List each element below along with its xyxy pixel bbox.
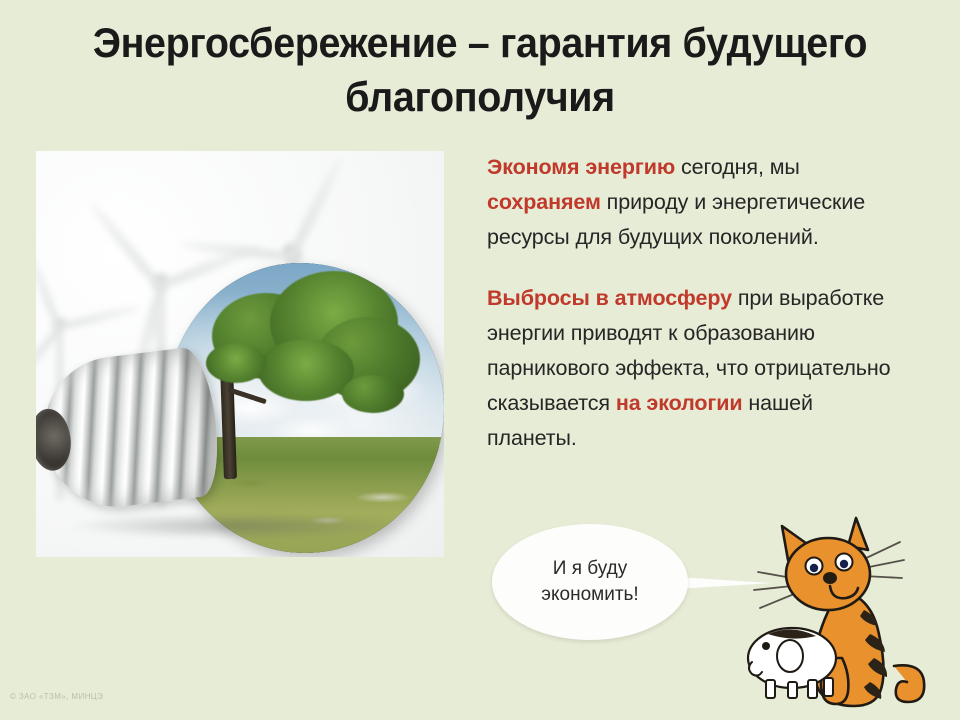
- copyright-watermark: © ЗАО «ТЗМ», МИНЦЭ: [10, 692, 103, 701]
- bulb-screw-base: [36, 345, 224, 515]
- tree-canopy: [258, 339, 354, 401]
- body-text-block: Экономя энергию сегодня, мы сохраняем пр…: [487, 150, 907, 482]
- title-line-2: благополучия: [66, 70, 893, 124]
- mouse-eye: [762, 642, 770, 650]
- highlight-ecology: на экологии: [616, 391, 743, 415]
- speech-bubble: И я буду экономить!: [492, 524, 688, 640]
- cat-pupil-right: [840, 560, 848, 568]
- cat-pupil-left: [810, 564, 818, 572]
- speech-bubble-text: И я буду экономить!: [492, 524, 688, 640]
- mouse-leg: [766, 680, 775, 698]
- highlight-emissions: Выбросы в атмосферу: [487, 286, 732, 310]
- paragraph-emissions: Выбросы в атмосферу при выработке энерги…: [487, 281, 907, 456]
- mouse-leg: [808, 680, 817, 698]
- cat-tail: [894, 665, 924, 702]
- slide-canvas: Энергосбережение – гарантия будущего бла…: [0, 0, 960, 720]
- bubble-line-2: экономить!: [541, 582, 638, 608]
- mouse-leg: [788, 682, 797, 698]
- highlight-preserve: сохраняем: [487, 190, 601, 214]
- paragraph-saving-energy: Экономя энергию сегодня, мы сохраняем пр…: [487, 150, 907, 255]
- tree-canopy: [342, 375, 404, 413]
- title-line-1: Энергосбережение – гарантия будущего: [66, 16, 893, 70]
- bubble-line-1: И я буду: [553, 556, 627, 582]
- page-title: Энергосбережение – гарантия будущего бла…: [40, 16, 920, 124]
- tree-canopy: [206, 343, 266, 383]
- highlight-econom-energy: Экономя энергию: [487, 155, 675, 179]
- cat-and-mouse-svg: [744, 516, 956, 716]
- lightbulb-photo: [36, 151, 444, 557]
- mouse-leg: [824, 678, 833, 696]
- cat-nose: [823, 572, 837, 584]
- paragraph1-text1: сегодня, мы: [675, 155, 800, 179]
- cat-illustration: [744, 516, 956, 716]
- bulb-shadow: [66, 513, 406, 539]
